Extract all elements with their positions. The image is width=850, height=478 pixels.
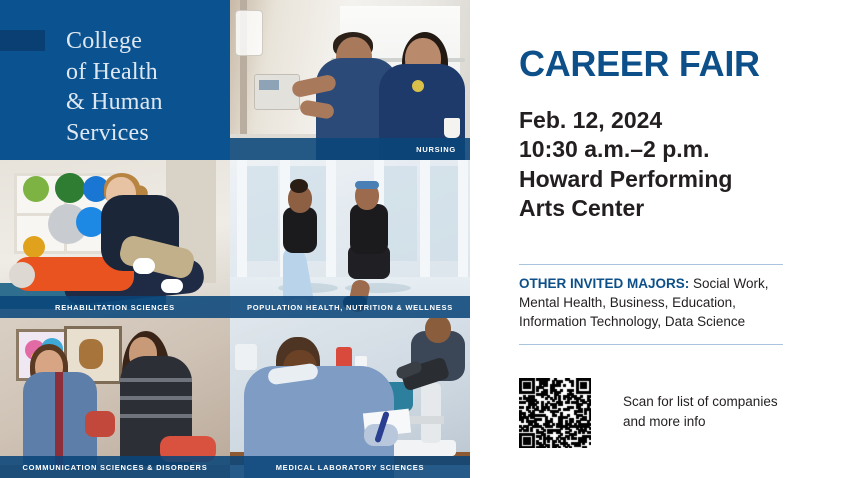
qr-caption-line-1: Scan for list of companies: [623, 392, 803, 412]
career-fair-poster: College of Health & Human Services: [0, 0, 850, 478]
photo-nursing: NURSING: [230, 0, 470, 160]
photo-communication-sciences: COMMUNICATION SCIENCES & DISORDERS: [0, 318, 230, 478]
college-name-line-4: Services: [66, 118, 222, 149]
event-details: Feb. 12, 2024 10:30 a.m.–2 p.m. Howard P…: [519, 106, 819, 224]
caption-bar-population-health: POPULATION HEALTH, NUTRITION & WELLNESS: [230, 296, 470, 318]
qr-caption-line-2: and more info: [623, 412, 803, 432]
event-venue-line-2: Arts Center: [519, 194, 819, 223]
other-invited-majors: OTHER INVITED MAJORS: Social Work, Menta…: [519, 274, 801, 331]
caption-bar-medical-lab: MEDICAL LABORATORY SCIENCES: [230, 456, 470, 478]
photo-collage: College of Health & Human Services: [0, 0, 470, 478]
exercise-ball-shape: [23, 176, 49, 202]
therapist-shoe-shape: [161, 279, 183, 293]
anatomical-model-shape: [85, 411, 115, 437]
photo-rehabilitation-sciences: REHABILITATION SCIENCES: [0, 160, 230, 318]
exercise-ball-shape: [23, 236, 45, 258]
brand-panel: College of Health & Human Services: [0, 0, 230, 160]
qr-section: Scan for list of companies and more info: [470, 370, 850, 460]
iv-bag-shape: [235, 10, 263, 56]
info-panel: CAREER FAIR Feb. 12, 2024 10:30 a.m.–2 p…: [470, 0, 850, 478]
caption-label: NURSING: [402, 145, 470, 154]
photo-medical-laboratory-sciences: MEDICAL LABORATORY SCIENCES: [230, 318, 470, 478]
reagent-bottle-shape: [235, 344, 257, 370]
communication-photo: [0, 318, 230, 478]
column-shape: [326, 160, 336, 290]
brand-accent-bar: [0, 30, 45, 51]
college-name: College of Health & Human Services: [66, 26, 222, 149]
college-name-line-3: & Human: [66, 87, 222, 118]
population-health-photo: [230, 160, 470, 318]
caption-label: POPULATION HEALTH, NUTRITION & WELLNESS: [233, 303, 467, 312]
column-shape: [237, 160, 247, 290]
microscope-column-shape: [421, 383, 441, 443]
cup-shape: [444, 118, 460, 138]
page-title: CAREER FAIR: [519, 46, 760, 82]
event-venue-line-1: Howard Performing: [519, 165, 819, 194]
column-shape: [420, 160, 430, 290]
runner1-top-shape: [283, 207, 317, 253]
glass-panel-shape: [427, 166, 461, 261]
caption-label: MEDICAL LABORATORY SCIENCES: [262, 463, 439, 472]
college-name-line-2: of Health: [66, 57, 222, 88]
therapist-glove-shape: [133, 258, 155, 274]
medical-lab-photo: [230, 318, 470, 478]
caption-label: REHABILITATION SCIENCES: [41, 303, 189, 312]
column-shape: [458, 160, 468, 290]
majors-label: OTHER INVITED MAJORS:: [519, 276, 689, 291]
qr-code[interactable]: [519, 378, 591, 448]
runner1-hair-shape: [290, 179, 308, 193]
qr-caption: Scan for list of companies and more info: [623, 392, 803, 431]
nursing-photo: [230, 0, 470, 160]
rehabilitation-photo: [0, 160, 230, 318]
divider-bottom: [519, 344, 783, 345]
runner2-headband-shape: [355, 181, 379, 189]
patient-head-shape: [9, 262, 35, 288]
caption-bar-nursing: NURSING: [230, 138, 470, 160]
photo-population-health: POPULATION HEALTH, NUTRITION & WELLNESS: [230, 160, 470, 318]
divider-top: [519, 264, 783, 265]
caption-label: COMMUNICATION SCIENCES & DISORDERS: [9, 463, 222, 472]
caption-bar-communication: COMMUNICATION SCIENCES & DISORDERS: [0, 456, 230, 478]
exercise-ball-shape: [55, 173, 85, 203]
college-name-line-1: College: [66, 26, 222, 57]
event-time: 10:30 a.m.–2 p.m.: [519, 135, 819, 164]
runner2-top-shape: [350, 204, 388, 254]
caption-bar-rehabilitation: REHABILITATION SCIENCES: [0, 296, 230, 318]
event-date: Feb. 12, 2024: [519, 106, 819, 135]
